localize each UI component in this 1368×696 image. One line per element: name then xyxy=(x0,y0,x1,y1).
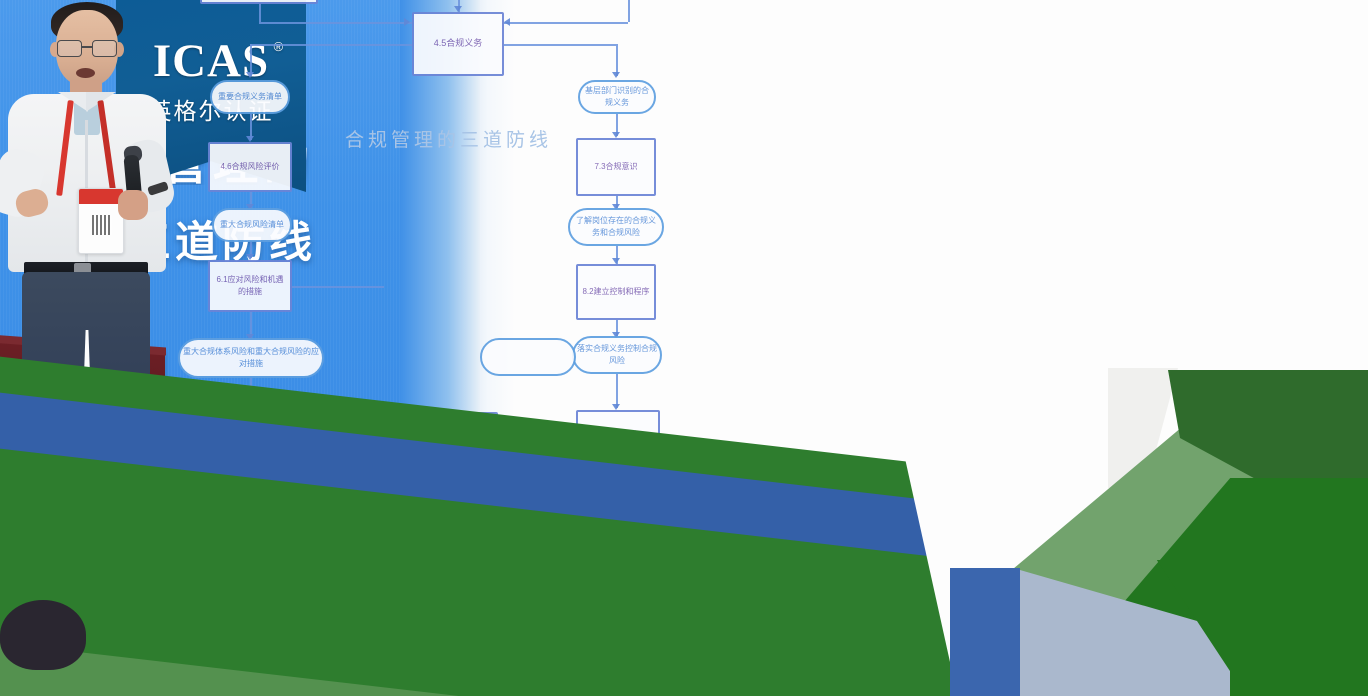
speaker-hand-right xyxy=(118,190,148,220)
flow-node-major-system-risk-measures: 重大合规体系风险和重大合规风险的应对措施 xyxy=(178,338,324,378)
flow-node-7-3-awareness: 7.3合规意识 xyxy=(576,138,656,196)
flow-node-8-2-controls-procedures: 8.2建立控制和程序 xyxy=(576,264,656,320)
flow-node-right-stub xyxy=(480,338,576,376)
flow-node-6-1-risk-measures: 6.1应对风险和机遇的措施 xyxy=(208,260,292,312)
speaker-mouth xyxy=(76,68,95,78)
backdrop-headline-line2: 三道防线 xyxy=(128,208,458,264)
flow-edge xyxy=(292,286,384,288)
flow-arrow-icon xyxy=(504,18,510,26)
flow-node-4-6-risk-assessment: 4.6合规风险评价 xyxy=(208,142,292,192)
audience-head xyxy=(0,600,86,670)
flow-edge xyxy=(259,4,261,22)
conference-badge xyxy=(78,188,124,254)
flow-edge xyxy=(628,0,630,22)
flow-node-compliance-obligations: 4.5合规义务 xyxy=(412,12,504,76)
glasses-bridge xyxy=(82,46,92,48)
flow-arrow-icon xyxy=(454,6,462,12)
flow-arrow-icon xyxy=(246,72,254,78)
flow-node-post-obligations-risks: 了解岗位存在的合规义务和合规风险 xyxy=(568,208,664,246)
flow-node-important-obligation-list: 重要合规义务清单 xyxy=(210,80,290,114)
overlay-blue-box xyxy=(950,568,1020,696)
slide-caption: 合规管理的三道防线 xyxy=(345,125,552,152)
glasses-icon xyxy=(57,40,82,57)
flow-arrow-icon xyxy=(404,18,410,26)
flow-edge xyxy=(504,44,616,46)
glasses-icon xyxy=(92,40,117,57)
flow-edge xyxy=(259,22,412,24)
flow-edge xyxy=(616,374,618,408)
flow-node-major-risk-list: 重大合规风险清单 xyxy=(212,208,292,242)
flow-node-implement-controls: 落实合规义务控制合规风险 xyxy=(572,336,662,374)
flow-arrow-icon xyxy=(612,72,620,78)
flow-node-department-obligations: 基层部门识别的合规义务 xyxy=(578,80,656,114)
qr-code-icon xyxy=(92,215,112,235)
registered-trademark-icon: ® xyxy=(274,40,285,53)
flow-edge xyxy=(250,44,412,46)
flow-edge xyxy=(504,22,628,24)
badge-header xyxy=(79,189,123,204)
conference-photo: 合规管理的 三道防线 ICAS® 英格尔认证 合规管理的三道防线 4.5合规义务 xyxy=(0,0,1368,696)
